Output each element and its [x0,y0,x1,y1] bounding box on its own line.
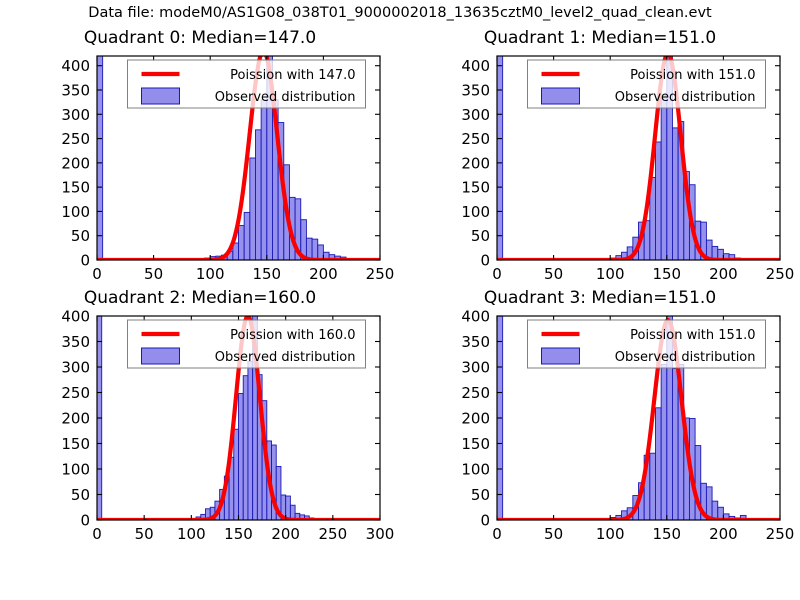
y-tick-label: 150 [61,179,90,197]
legend-label: Observed distribution [215,90,356,105]
y-tick-label: 0 [80,252,90,270]
subplot-title-quadrant-2: Quadrant 2: Median=160.0 [0,288,400,308]
y-tick-label: 350 [461,82,490,100]
x-tick-label: 200 [271,525,300,543]
legend-patch-swatch [142,88,180,104]
histogram-bar [672,128,678,260]
histogram-bar [243,376,248,520]
x-tick-label: 150 [224,525,253,543]
x-tick-label: 50 [144,265,163,283]
y-tick-label: 100 [61,203,90,221]
y-tick-label: 300 [461,359,490,377]
x-tick-label: 0 [492,265,502,283]
y-tick-label: 150 [61,435,90,453]
y-tick-label: 50 [71,486,90,504]
y-tick-label: 200 [461,410,490,428]
histogram-bar [661,364,667,520]
histogram-bar [250,158,256,260]
legend-label: Poission with 160.0 [230,328,355,343]
x-tick-label: 150 [252,265,281,283]
subplot-title-quadrant-1: Quadrant 1: Median=151.0 [400,28,800,48]
y-tick-label: 300 [61,359,90,377]
histogram-bar [261,100,267,260]
histogram-bar [97,56,103,260]
histogram-bar [672,369,678,520]
histogram-bar [650,453,656,520]
histogram-bar [244,212,250,260]
y-tick-label: 400 [61,57,90,75]
matplotlib-figure: Data file: modeM0/AS1G08_038T01_90000020… [0,0,800,600]
y-tick-label: 0 [80,512,90,530]
subplot-quadrant-3: Quadrant 3: Median=151.0 050100150200250… [400,288,800,568]
y-tick-label: 200 [61,154,90,172]
legend-label: Poission with 151.0 [630,328,755,343]
legend: Poission with 151.0Observed distribution [528,60,766,108]
legend-patch-swatch [142,348,180,364]
subplot-title-quadrant-3: Quadrant 3: Median=151.0 [400,288,800,308]
y-tick-label: 350 [61,333,90,351]
x-tick-label: 250 [766,525,795,543]
plot-canvas-quadrant-1: 050100150200250050100150200250300350400P… [400,28,800,300]
y-tick-label: 250 [461,384,490,402]
legend: Poission with 151.0Observed distribution [528,320,766,368]
x-tick-label: 0 [92,265,102,283]
histogram-bar [655,408,661,520]
y-tick-label: 50 [471,486,490,504]
figure-suptitle: Data file: modeM0/AS1G08_038T01_90000020… [0,5,800,21]
x-tick-label: 100 [177,525,206,543]
plot-canvas-quadrant-2: 0501001502002503000501001502002503003504… [0,288,400,568]
x-tick-label: 250 [766,265,795,283]
legend-label: Observed distribution [215,350,356,365]
histogram-bar [234,429,239,520]
x-tick-label: 50 [135,525,154,543]
histogram-bar [497,56,503,260]
y-tick-label: 0 [480,512,490,530]
histogram-bar [655,142,661,260]
legend-label: Observed distribution [615,90,756,105]
x-tick-label: 200 [709,525,738,543]
legend-label: Poission with 147.0 [230,68,355,83]
histogram-bar [312,239,318,260]
subplot-quadrant-0: Quadrant 0: Median=147.0 050100150200250… [0,28,400,300]
histogram-bar [248,361,253,520]
y-tick-label: 250 [61,384,90,402]
legend-label: Poission with 151.0 [630,68,755,83]
histogram-bar [318,245,324,260]
y-tick-label: 50 [71,227,90,245]
x-tick-label: 100 [596,265,625,283]
y-tick-label: 350 [461,333,490,351]
subplot-title-quadrant-0: Quadrant 0: Median=147.0 [0,28,400,48]
subplot-quadrant-2: Quadrant 2: Median=160.0 050100150200250… [0,288,400,568]
subplot-quadrant-1: Quadrant 1: Median=151.0 050100150200250… [400,28,800,300]
y-tick-label: 100 [61,461,90,479]
y-tick-label: 100 [461,461,490,479]
x-tick-label: 300 [366,525,395,543]
x-tick-label: 150 [652,265,681,283]
y-tick-label: 0 [480,252,490,270]
y-tick-label: 300 [461,106,490,124]
x-tick-label: 0 [92,525,102,543]
histogram-bar [239,226,245,260]
plot-canvas-quadrant-0: 050100150200250050100150200250300350400P… [0,28,400,300]
x-tick-label: 50 [544,265,563,283]
x-tick-label: 250 [366,265,395,283]
y-tick-label: 350 [61,82,90,100]
y-tick-label: 50 [471,227,490,245]
x-tick-label: 200 [309,265,338,283]
legend-patch-swatch [542,88,580,104]
y-tick-label: 250 [61,130,90,148]
histogram-bar [255,130,261,260]
plot-canvas-quadrant-3: 050100150200250050100150200250300350400P… [400,288,800,568]
y-tick-label: 150 [461,179,490,197]
y-tick-label: 400 [461,57,490,75]
x-tick-label: 100 [596,525,625,543]
x-tick-label: 200 [709,265,738,283]
x-tick-label: 50 [544,525,563,543]
y-tick-label: 300 [61,106,90,124]
x-tick-label: 150 [652,525,681,543]
x-tick-label: 0 [492,525,502,543]
x-tick-label: 250 [319,525,348,543]
legend-patch-swatch [542,348,580,364]
y-tick-label: 400 [61,308,90,326]
histogram-bar [239,394,244,520]
x-tick-label: 100 [196,265,225,283]
legend: Poission with 147.0Observed distribution [128,60,366,108]
y-tick-label: 400 [461,308,490,326]
y-tick-label: 250 [461,130,490,148]
histogram-bar [286,496,291,520]
y-tick-label: 150 [461,435,490,453]
y-tick-label: 200 [61,410,90,428]
legend-label: Observed distribution [615,350,756,365]
legend: Poission with 160.0Observed distribution [128,320,366,368]
histogram-bar [661,95,667,260]
y-tick-label: 200 [461,154,490,172]
y-tick-label: 100 [461,203,490,221]
